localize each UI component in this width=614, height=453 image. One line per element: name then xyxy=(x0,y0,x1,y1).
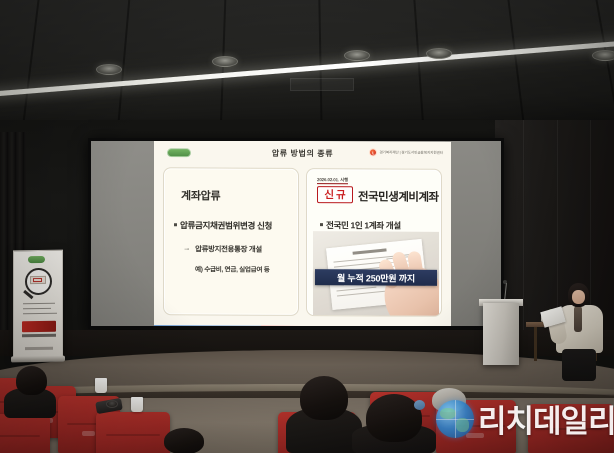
right-panel-heading: 전국민생계비계좌 xyxy=(358,188,439,204)
left-panel-bullet-1-text: 압류금지채권범위변경 신청 xyxy=(180,219,272,232)
ceiling-vent xyxy=(290,78,354,91)
hair-accessory xyxy=(414,400,425,410)
slide-footer-bar xyxy=(154,325,451,326)
slide-panels: 계좌압류 압류금지채권범위변경 신청 → 압류방지전용통장 개설 예) 수급비, xyxy=(163,167,442,317)
watermark-text: 리치데일리 xyxy=(478,396,614,441)
new-badge: 신규 xyxy=(317,186,353,203)
presenter-face xyxy=(572,290,585,304)
slide-header-org: L 경기복지재단 | 경기도서민금융복지지원센터 xyxy=(369,148,443,156)
red-circle-logo-icon: L xyxy=(369,148,377,156)
recessed-downlight-icon xyxy=(344,50,370,61)
arrow-right-icon: → xyxy=(183,243,190,252)
right-panel-bullet-1: 전국민 1인 1계좌 개설 xyxy=(320,219,401,231)
seat xyxy=(96,412,170,453)
paper-cup xyxy=(95,378,107,393)
paper-cup xyxy=(131,397,143,412)
audience-head xyxy=(366,394,422,442)
recessed-downlight-icon xyxy=(96,64,122,75)
slide-panel-left: 계좌압류 압류금지채권범위변경 신청 → 압류방지전용통장 개설 예) 수급비, xyxy=(163,167,299,316)
highlight-band: 월 누적 250만원 까지 xyxy=(315,269,437,286)
recessed-downlight-icon xyxy=(212,56,238,67)
left-panel-bullet-2-text: 압류방지전용통장 개설 xyxy=(195,243,262,254)
left-panel-bullet-3: 예) 수급비, 연금, 실업급여 등 xyxy=(195,263,270,273)
cup-holder-icon xyxy=(106,400,118,408)
presenter-scarf xyxy=(574,306,582,332)
banner-headline xyxy=(22,321,56,332)
banner-footline xyxy=(25,347,53,350)
green-oval-logo-icon xyxy=(28,256,45,263)
effective-date-note: 2026.02.01. 시행 xyxy=(317,177,348,184)
slide-panel-right: 2026.02.01. 시행 신규 전국민생계비계좌 전국민 1인 1계좌 개설 xyxy=(306,168,442,317)
right-panel-bullet-1-text: 전국민 1인 1계좌 개설 xyxy=(326,219,401,231)
lectern: G xyxy=(483,303,519,365)
left-panel-heading: 계좌압류 xyxy=(181,187,220,203)
left-panel-bullet-2: → 압류방지전용통장 개설 xyxy=(183,243,262,254)
banner-base xyxy=(11,356,65,363)
recessed-downlight-icon xyxy=(592,50,614,61)
audience-head xyxy=(164,428,204,453)
projection-screen: 압류 방법의 종류 L 경기복지재단 | 경기도서민금융복지지원센터 계좌압류 xyxy=(88,138,504,329)
ceiling xyxy=(0,0,614,132)
presenter xyxy=(548,283,612,379)
left-panel-bullet-1: 압류금지채권범위변경 신청 xyxy=(174,219,272,232)
audience-head xyxy=(16,366,47,395)
left-panel-bullet-3-text: 예) 수급비, 연금, 실업급여 등 xyxy=(195,263,270,273)
org-label: 경기복지재단 | 경기도서민금융복지지원센터 xyxy=(379,150,443,155)
presenter-legs xyxy=(562,349,596,381)
recessed-downlight-icon xyxy=(426,48,452,59)
globe-icon xyxy=(436,400,474,438)
lecture-hall-photo: 압류 방법의 종류 L 경기복지재단 | 경기도서민금융복지지원센터 계좌압류 xyxy=(0,0,614,453)
watermark: 리치데일리 xyxy=(436,396,614,441)
seat xyxy=(0,414,50,453)
footer-bar-blue xyxy=(154,325,261,326)
hand-image xyxy=(378,260,439,316)
bullet-square-icon xyxy=(174,223,177,226)
banner-stamp-graphic xyxy=(33,277,42,282)
bullet-square-icon xyxy=(320,223,323,226)
roll-up-banner xyxy=(13,250,63,359)
screen-letterbox-left xyxy=(91,141,154,326)
banner-subline xyxy=(22,334,56,337)
presentation-slide: 압류 방법의 종류 L 경기복지재단 | 경기도서민금융복지지원센터 계좌압류 xyxy=(154,141,451,326)
audience-head xyxy=(300,376,348,420)
slide-header: 압류 방법의 종류 L 경기복지재단 | 경기도서민금융복지지원센터 xyxy=(154,141,451,166)
